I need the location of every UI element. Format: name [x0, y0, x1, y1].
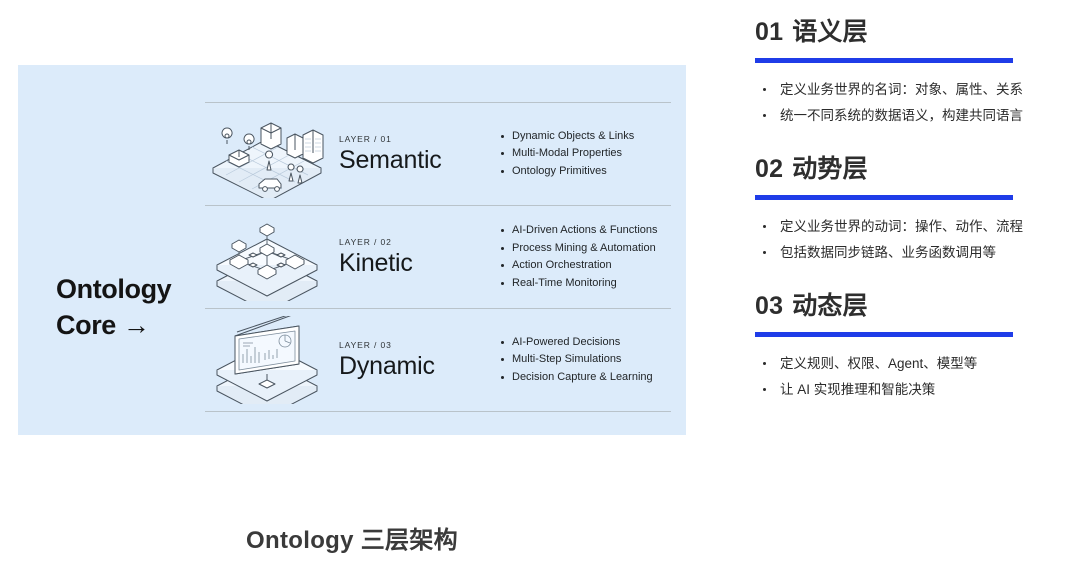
layer-feature: AI-Powered Decisions: [501, 334, 671, 352]
layer-feature: Multi-Step Simulations: [501, 351, 671, 369]
layer-kicker: LAYER / 02: [339, 237, 499, 247]
summary-line: 让 AI 实现推理和智能决策: [755, 377, 1060, 403]
layer-feature: Multi-Modal Properties: [501, 145, 671, 163]
accent-rule: [755, 58, 1013, 63]
summary-number: 01: [755, 18, 783, 46]
layer-kicker: LAYER / 03: [339, 340, 499, 350]
summary-block-03: 03动态层 定义规则、权限、Agent、模型等 让 AI 实现推理和智能决策: [755, 290, 1060, 403]
summary-heading: 01语义层: [755, 16, 1060, 49]
accent-rule: [755, 195, 1013, 200]
layer-feature: AI-Driven Actions & Functions: [501, 222, 671, 240]
summary-block-01: 01语义层 定义业务世界的名词：对象、属性、关系 统一不同系统的数据语义，构建共…: [755, 16, 1060, 129]
page-title: Ontology Core →: [56, 271, 171, 343]
summary-line: 定义业务世界的名词：对象、属性、关系: [755, 77, 1060, 103]
layer-heading: LAYER / 02 Kinetic: [339, 237, 499, 278]
layer-feature: Decision Capture & Learning: [501, 369, 671, 387]
layer-feature: Ontology Primitives: [501, 163, 671, 181]
layer-feature: Real-Time Monitoring: [501, 275, 671, 293]
ontology-core-panel: Ontology Core →: [18, 65, 686, 435]
layer-name: Semantic: [339, 146, 499, 175]
layer-row[interactable]: LAYER / 03 Dynamic AI-Powered Decisions …: [205, 308, 671, 412]
isometric-node-network-icon: [205, 213, 329, 301]
layer-heading: LAYER / 01 Semantic: [339, 134, 499, 175]
layer-kicker: LAYER / 01: [339, 134, 499, 144]
layer-summary-column: 01语义层 定义业务世界的名词：对象、属性、关系 统一不同系统的数据语义，构建共…: [755, 16, 1060, 421]
summary-line: 统一不同系统的数据语义，构建共同语言: [755, 103, 1060, 129]
layer-feature-list: AI-Driven Actions & Functions Process Mi…: [499, 222, 671, 292]
layer-row[interactable]: LAYER / 01 Semantic Dynamic Objects & Li…: [205, 102, 671, 205]
summary-number: 02: [755, 155, 783, 183]
layer-feature: Action Orchestration: [501, 257, 671, 275]
layer-feature: Dynamic Objects & Links: [501, 128, 671, 146]
summary-block-02: 02动势层 定义业务世界的动词：操作、动作、流程 包括数据同步链路、业务函数调用…: [755, 153, 1060, 266]
summary-heading: 02动势层: [755, 153, 1060, 186]
summary-heading: 03动态层: [755, 290, 1060, 323]
layer-feature: Process Mining & Automation: [501, 240, 671, 258]
summary-title: 动势层: [792, 155, 868, 183]
summary-line: 定义规则、权限、Agent、模型等: [755, 351, 1060, 377]
accent-rule: [755, 332, 1013, 337]
slide-root: Ontology Core →: [0, 0, 1080, 580]
summary-title: 语义层: [792, 18, 868, 46]
layer-list: LAYER / 01 Semantic Dynamic Objects & Li…: [205, 102, 671, 410]
slide-caption: Ontology 三层架构: [0, 520, 704, 555]
summary-line: 包括数据同步链路、业务函数调用等: [755, 240, 1060, 266]
layer-heading: LAYER / 03 Dynamic: [339, 340, 499, 381]
isometric-city-grid-icon: [205, 110, 329, 198]
summary-title: 动态层: [792, 292, 868, 320]
layer-feature-list: Dynamic Objects & Links Multi-Modal Prop…: [499, 128, 671, 181]
summary-line: 定义业务世界的动词：操作、动作、流程: [755, 214, 1060, 240]
layer-name: Dynamic: [339, 352, 499, 381]
layer-feature-list: AI-Powered Decisions Multi-Step Simulati…: [499, 334, 671, 387]
layer-row[interactable]: LAYER / 02 Kinetic AI-Driven Actions & F…: [205, 205, 671, 308]
layer-name: Kinetic: [339, 249, 499, 278]
isometric-dashboard-monitor-icon: [205, 316, 329, 404]
summary-number: 03: [755, 292, 783, 320]
